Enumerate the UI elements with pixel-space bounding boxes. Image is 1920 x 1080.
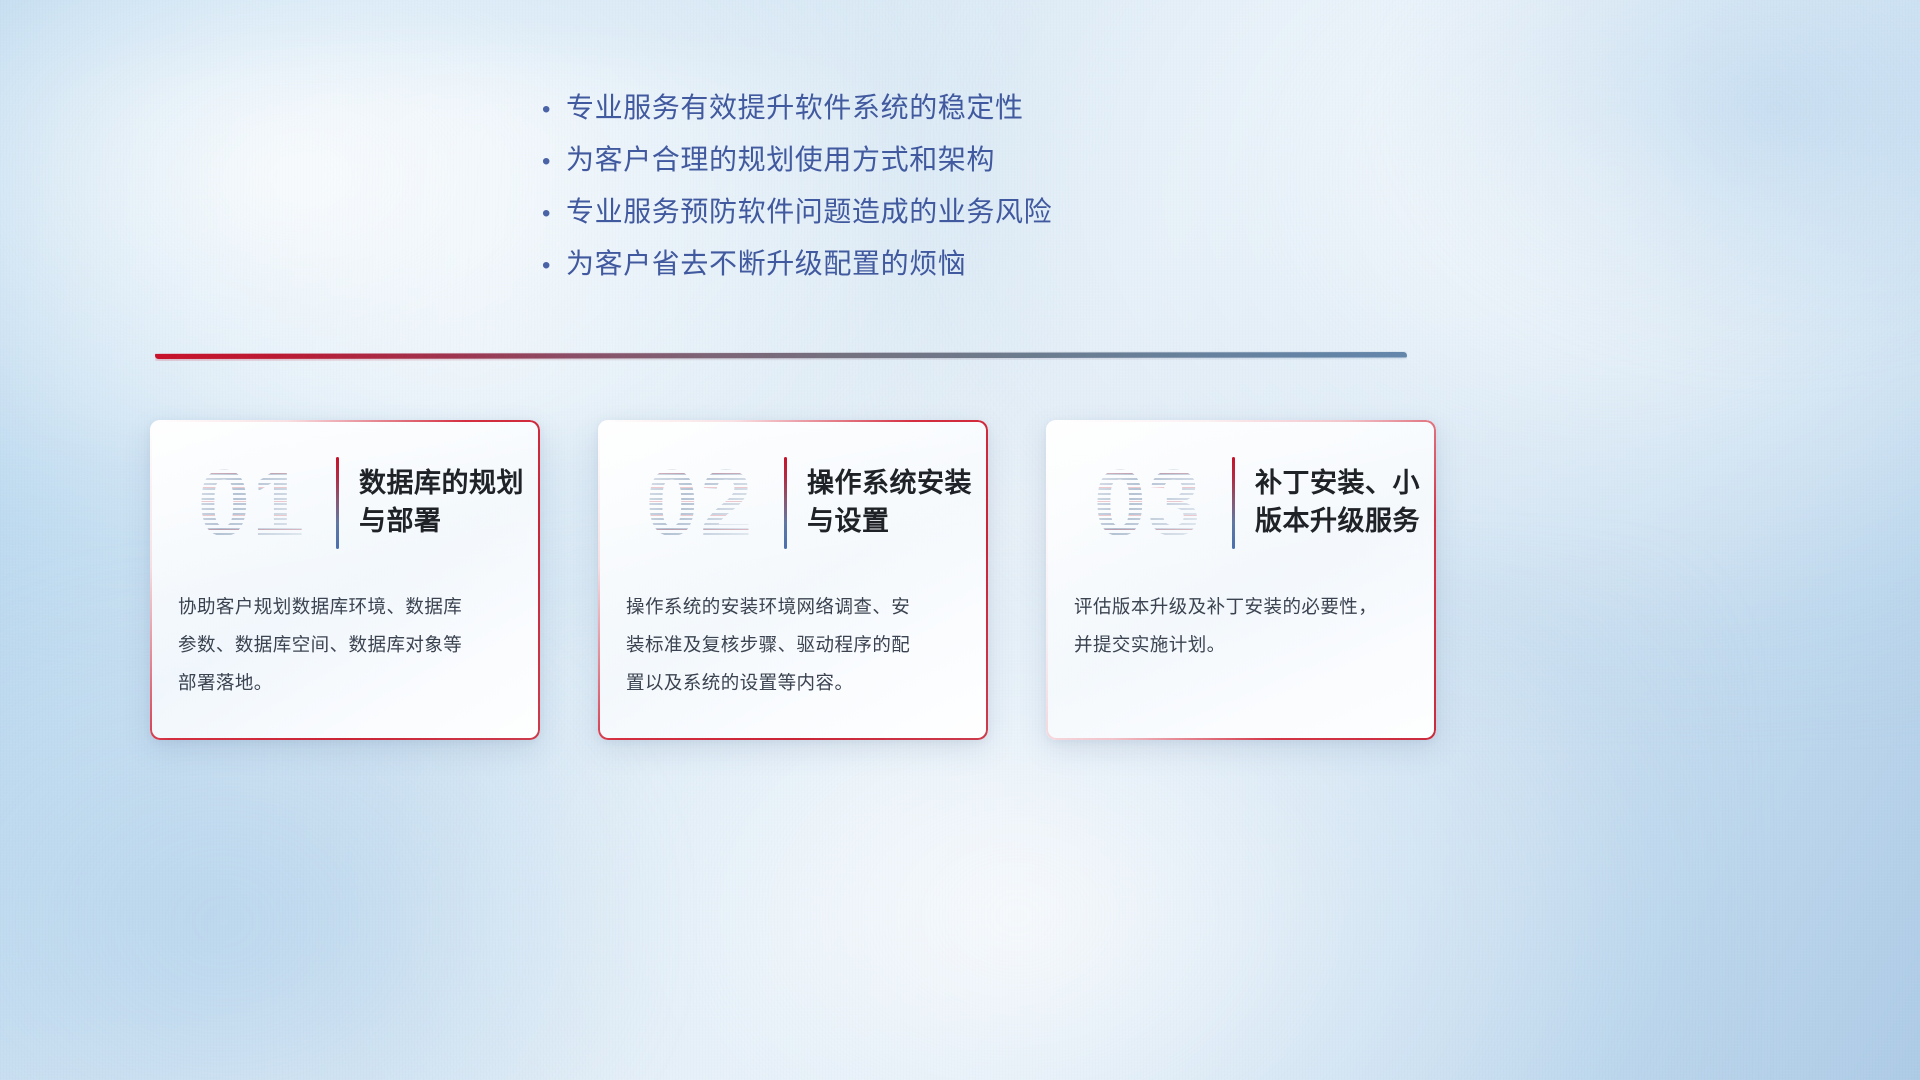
service-card-01[interactable]: 01 01 数据库的规划 与部署 协助客户规划数据库环境、数据库 参数、数据库空… — [150, 420, 540, 740]
card-body-line-3: 置以及系统的设置等内容。 — [626, 664, 964, 702]
bullet-item-text: 专业服务有效提升软件系统的稳定性 — [566, 86, 1024, 126]
card-title-divider-bar — [784, 457, 787, 549]
card-title-line-2: 版本升级服务 — [1255, 503, 1420, 540]
card-body-text: 评估版本升级及补丁安装的必要性， 并提交实施计划。 — [1074, 588, 1412, 664]
service-card-02[interactable]: 02 02 操作系统安装 与设置 操作系统的安装环境网络调查、安 装标准及复核步… — [598, 420, 988, 740]
card-number-watermark: 03 03 — [1068, 448, 1228, 558]
benefits-bullet-list: • 专业服务有效提升软件系统的稳定性 • 为客户合理的规划使用方式和架构 • 专… — [532, 86, 1292, 294]
card-body-line-1: 评估版本升级及补丁安装的必要性， — [1074, 588, 1412, 626]
bullet-item: • 专业服务预防软件问题造成的业务风险 — [532, 190, 1292, 242]
card-title-line-1: 操作系统安装 — [807, 465, 972, 502]
card-header: 01 01 数据库的规划 与部署 — [150, 440, 540, 565]
section-divider — [155, 348, 1407, 364]
card-title: 操作系统安装 与设置 — [807, 465, 988, 540]
bullet-item-text: 专业服务预防软件问题造成的业务风险 — [566, 190, 1052, 230]
card-number-watermark: 01 01 — [172, 448, 332, 558]
bullet-dot-icon: • — [532, 150, 566, 174]
card-body-line-3: 部署落地。 — [178, 664, 516, 702]
card-body-line-2: 装标准及复核步骤、驱动程序的配 — [626, 626, 964, 664]
card-title: 补丁安装、小 版本升级服务 — [1255, 465, 1436, 540]
bullet-item: • 为客户省去不断升级配置的烦恼 — [532, 242, 1292, 294]
card-body-line-1: 操作系统的安装环境网络调查、安 — [626, 588, 964, 626]
service-card-03[interactable]: 03 03 补丁安装、小 版本升级服务 评估版本升级及补丁安装的必要性， 并提交… — [1046, 420, 1436, 740]
bullet-item-text: 为客户省去不断升级配置的烦恼 — [566, 242, 966, 282]
card-number-watermark: 02 02 — [620, 448, 780, 558]
card-number-text: 01 — [198, 456, 307, 550]
bullet-item-text: 为客户合理的规划使用方式和架构 — [566, 138, 995, 178]
card-title-divider-bar — [1232, 457, 1235, 549]
card-body-line-1: 协助客户规划数据库环境、数据库 — [178, 588, 516, 626]
card-title-line-1: 补丁安装、小 — [1255, 465, 1420, 502]
bullet-dot-icon: • — [532, 98, 566, 122]
card-header: 02 02 操作系统安装 与设置 — [598, 440, 988, 565]
card-title-line-1: 数据库的规划 — [359, 465, 524, 502]
card-number-text: 03 — [1094, 456, 1203, 550]
slide-canvas: • 专业服务有效提升软件系统的稳定性 • 为客户合理的规划使用方式和架构 • 专… — [0, 0, 1920, 1080]
bullet-dot-icon: • — [532, 254, 566, 278]
card-number-text: 02 — [646, 456, 755, 550]
card-title-line-2: 与部署 — [359, 503, 524, 540]
card-body-text: 协助客户规划数据库环境、数据库 参数、数据库空间、数据库对象等 部署落地。 — [178, 588, 516, 702]
bullet-dot-icon: • — [532, 202, 566, 226]
card-header: 03 03 补丁安装、小 版本升级服务 — [1046, 440, 1436, 565]
card-body-text: 操作系统的安装环境网络调查、安 装标准及复核步骤、驱动程序的配 置以及系统的设置… — [626, 588, 964, 702]
bullet-item: • 为客户合理的规划使用方式和架构 — [532, 138, 1292, 190]
card-title-divider-bar — [336, 457, 339, 549]
service-card-group: 01 01 数据库的规划 与部署 协助客户规划数据库环境、数据库 参数、数据库空… — [150, 420, 1470, 750]
card-body-line-2: 参数、数据库空间、数据库对象等 — [178, 626, 516, 664]
card-title: 数据库的规划 与部署 — [359, 465, 540, 540]
card-title-line-2: 与设置 — [807, 503, 972, 540]
bullet-item: • 专业服务有效提升软件系统的稳定性 — [532, 86, 1292, 138]
card-body-line-2: 并提交实施计划。 — [1074, 626, 1412, 664]
